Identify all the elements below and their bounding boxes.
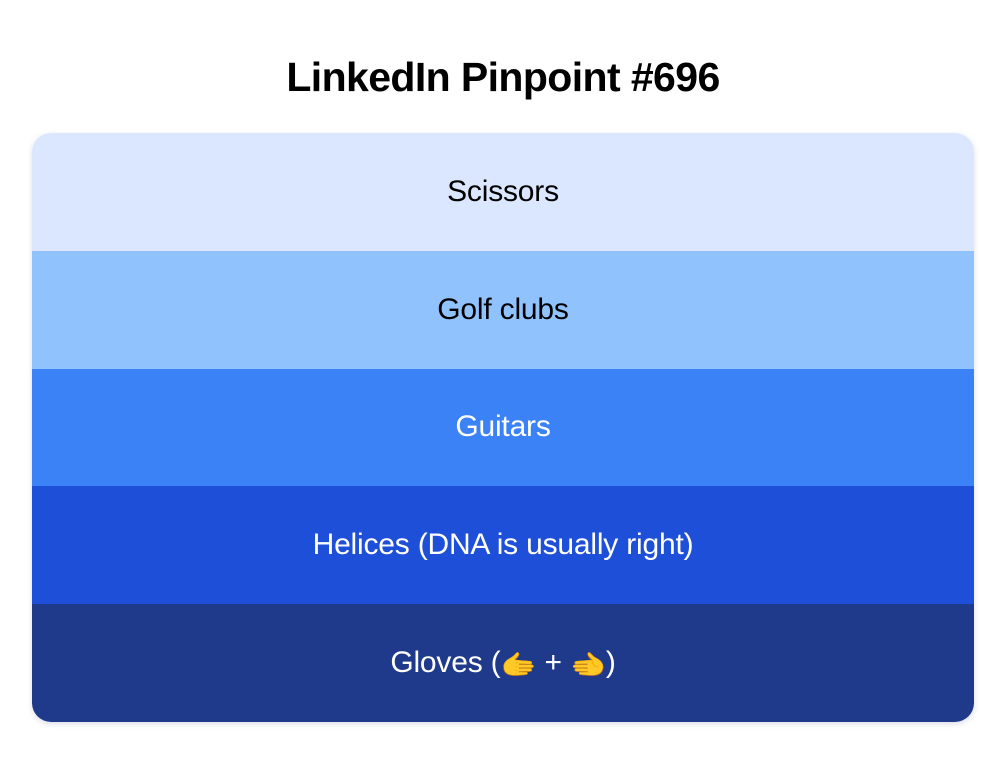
rank-row-5-label: Gloves (🫱 + 🫲): [390, 645, 615, 681]
rank-row-5-label-prefix: Gloves (: [390, 646, 500, 679]
rank-row-4-label: Helices (DNA is usually right): [313, 527, 694, 563]
rank-row-4[interactable]: Helices (DNA is usually right): [32, 486, 974, 604]
rank-row-5-label-suffix: ): [606, 646, 616, 679]
ranking-card: Scissors Golf clubs Guitars Helices (DNA…: [32, 133, 974, 722]
rank-row-3[interactable]: Guitars: [32, 369, 974, 487]
rank-row-1-label: Scissors: [447, 174, 559, 210]
rank-row-2[interactable]: Golf clubs: [32, 251, 974, 369]
page-title: LinkedIn Pinpoint #696: [0, 50, 1006, 104]
pinpoint-page: LinkedIn Pinpoint #696 Scissors Golf clu…: [0, 0, 1006, 758]
leftwards-hand-icon: 🫲: [570, 648, 606, 682]
rank-row-2-label: Golf clubs: [437, 292, 568, 328]
rank-row-1[interactable]: Scissors: [32, 133, 974, 251]
rightwards-hand-icon: 🫱: [500, 648, 536, 682]
rank-row-5[interactable]: Gloves (🫱 + 🫲): [32, 604, 974, 722]
rank-row-5-label-separator: +: [536, 646, 570, 679]
rank-row-3-label: Guitars: [455, 409, 550, 445]
